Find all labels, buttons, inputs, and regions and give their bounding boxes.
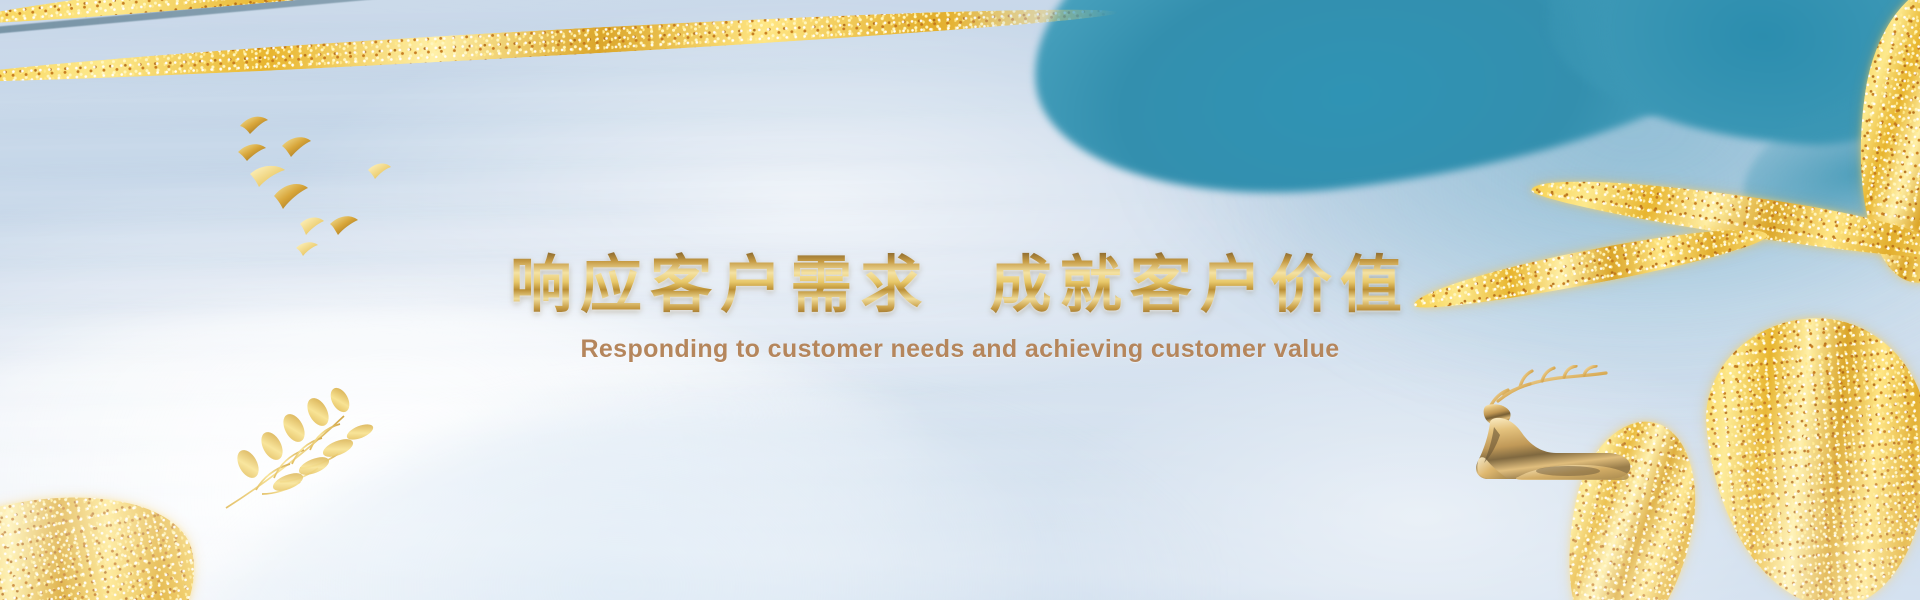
- deer-antler: [1490, 366, 1606, 407]
- bird-icon: [250, 166, 285, 187]
- flying-birds-flock: [238, 108, 418, 258]
- bird-icon: [238, 144, 266, 161]
- bird-icon: [240, 117, 268, 134]
- bird-icon: [274, 184, 308, 209]
- gold-glitter-leaf-branch: [218, 372, 418, 522]
- bird-icon: [330, 216, 358, 235]
- bird-icon: [282, 137, 311, 157]
- golden-deer-sculpture: [1460, 365, 1650, 495]
- marble-hero-banner: 响应客户需求 成就客户价值 Responding to customer nee…: [0, 0, 1920, 600]
- bird-icon: [368, 164, 391, 179]
- bird-icon: [296, 242, 318, 256]
- bird-icon: [300, 218, 324, 235]
